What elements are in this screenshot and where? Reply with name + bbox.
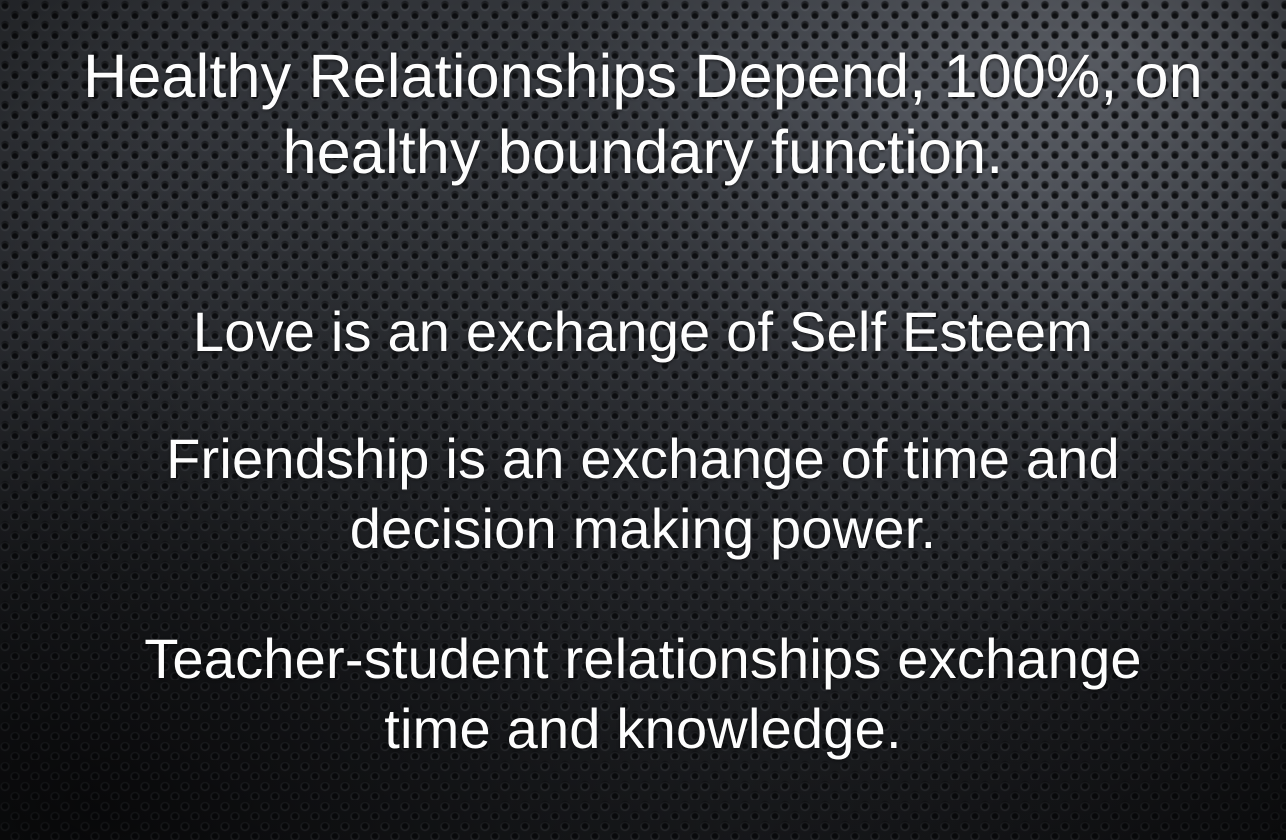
body-paragraph-friendship: Friendship is an exchange of time and de… [24, 424, 1262, 564]
slide-title-line-2: healthy boundary function. [24, 114, 1262, 190]
body-paragraph-friendship-line-2: decision making power. [24, 494, 1262, 564]
body-paragraph-friendship-line-1: Friendship is an exchange of time and [24, 424, 1262, 494]
slide-content: Healthy Relationships Depend, 100%, on h… [0, 0, 1286, 840]
body-paragraph-love-line-1: Love is an exchange of Self Esteem [24, 297, 1262, 367]
body-paragraph-teacher-student-line-2: time and knowledge. [18, 694, 1268, 764]
slide-title-line-1: Healthy Relationships Depend, 100%, on [24, 38, 1262, 114]
slide-canvas: Healthy Relationships Depend, 100%, on h… [0, 0, 1286, 840]
body-paragraph-love: Love is an exchange of Self Esteem [24, 297, 1262, 367]
body-paragraph-teacher-student: Teacher-student relationships exchange t… [18, 624, 1268, 764]
body-paragraph-teacher-student-line-1: Teacher-student relationships exchange [18, 624, 1268, 694]
slide-title: Healthy Relationships Depend, 100%, on h… [24, 38, 1262, 190]
